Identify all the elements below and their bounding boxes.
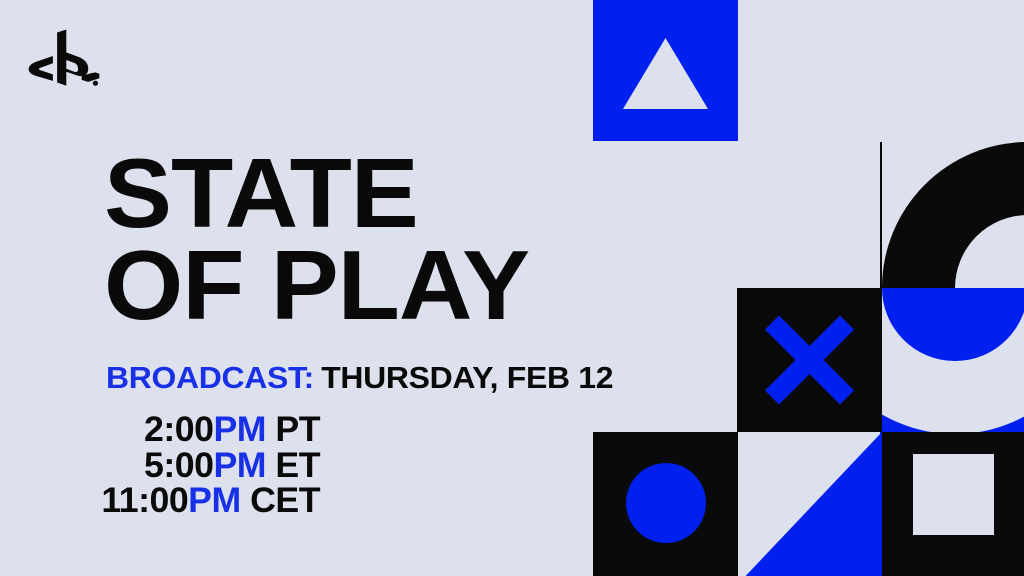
time-clock: 2:00 bbox=[144, 410, 213, 449]
circle-icon bbox=[593, 432, 738, 576]
time-zone: ET bbox=[275, 446, 320, 485]
ring-upper-half bbox=[882, 142, 1024, 288]
ring-lower-half bbox=[882, 288, 1024, 432]
time-clock: 11:00 bbox=[101, 481, 188, 520]
cross-icon bbox=[737, 288, 882, 432]
time-ampm: PM bbox=[213, 446, 266, 485]
time-row: 5:00PM ET bbox=[92, 448, 320, 484]
title-line-2: OF PLAY bbox=[104, 240, 686, 330]
state-of-play-promo-image: STATE OF PLAY BROADCAST:THURSDAY, FEB 12… bbox=[0, 0, 1024, 576]
time-row: 2:00PM PT bbox=[92, 412, 320, 448]
circle-outline-icon bbox=[882, 142, 1024, 432]
playstation-logo-icon bbox=[28, 28, 100, 86]
diagonal-icon bbox=[738, 432, 882, 576]
time-clock: 5:00 bbox=[144, 446, 213, 485]
time-ampm: PM bbox=[188, 481, 241, 520]
broadcast-label: BROADCAST: bbox=[106, 360, 314, 395]
time-row: 11:00PM CET bbox=[92, 483, 320, 519]
broadcast-times: 2:00PM PT 5:00PM ET 11:00PM CET bbox=[96, 412, 320, 519]
broadcast-line: BROADCAST:THURSDAY, FEB 12 bbox=[106, 360, 613, 396]
title-line-1: STATE bbox=[104, 148, 686, 238]
broadcast-date: THURSDAY, FEB 12 bbox=[321, 360, 613, 395]
time-zone: PT bbox=[275, 410, 320, 449]
triangle-icon bbox=[593, 0, 738, 141]
time-zone: CET bbox=[250, 481, 320, 520]
circle-dot bbox=[626, 463, 706, 543]
square-icon bbox=[882, 432, 1024, 576]
square-inner bbox=[913, 454, 994, 535]
time-ampm: PM bbox=[213, 410, 266, 449]
page-title: STATE OF PLAY bbox=[104, 148, 664, 330]
